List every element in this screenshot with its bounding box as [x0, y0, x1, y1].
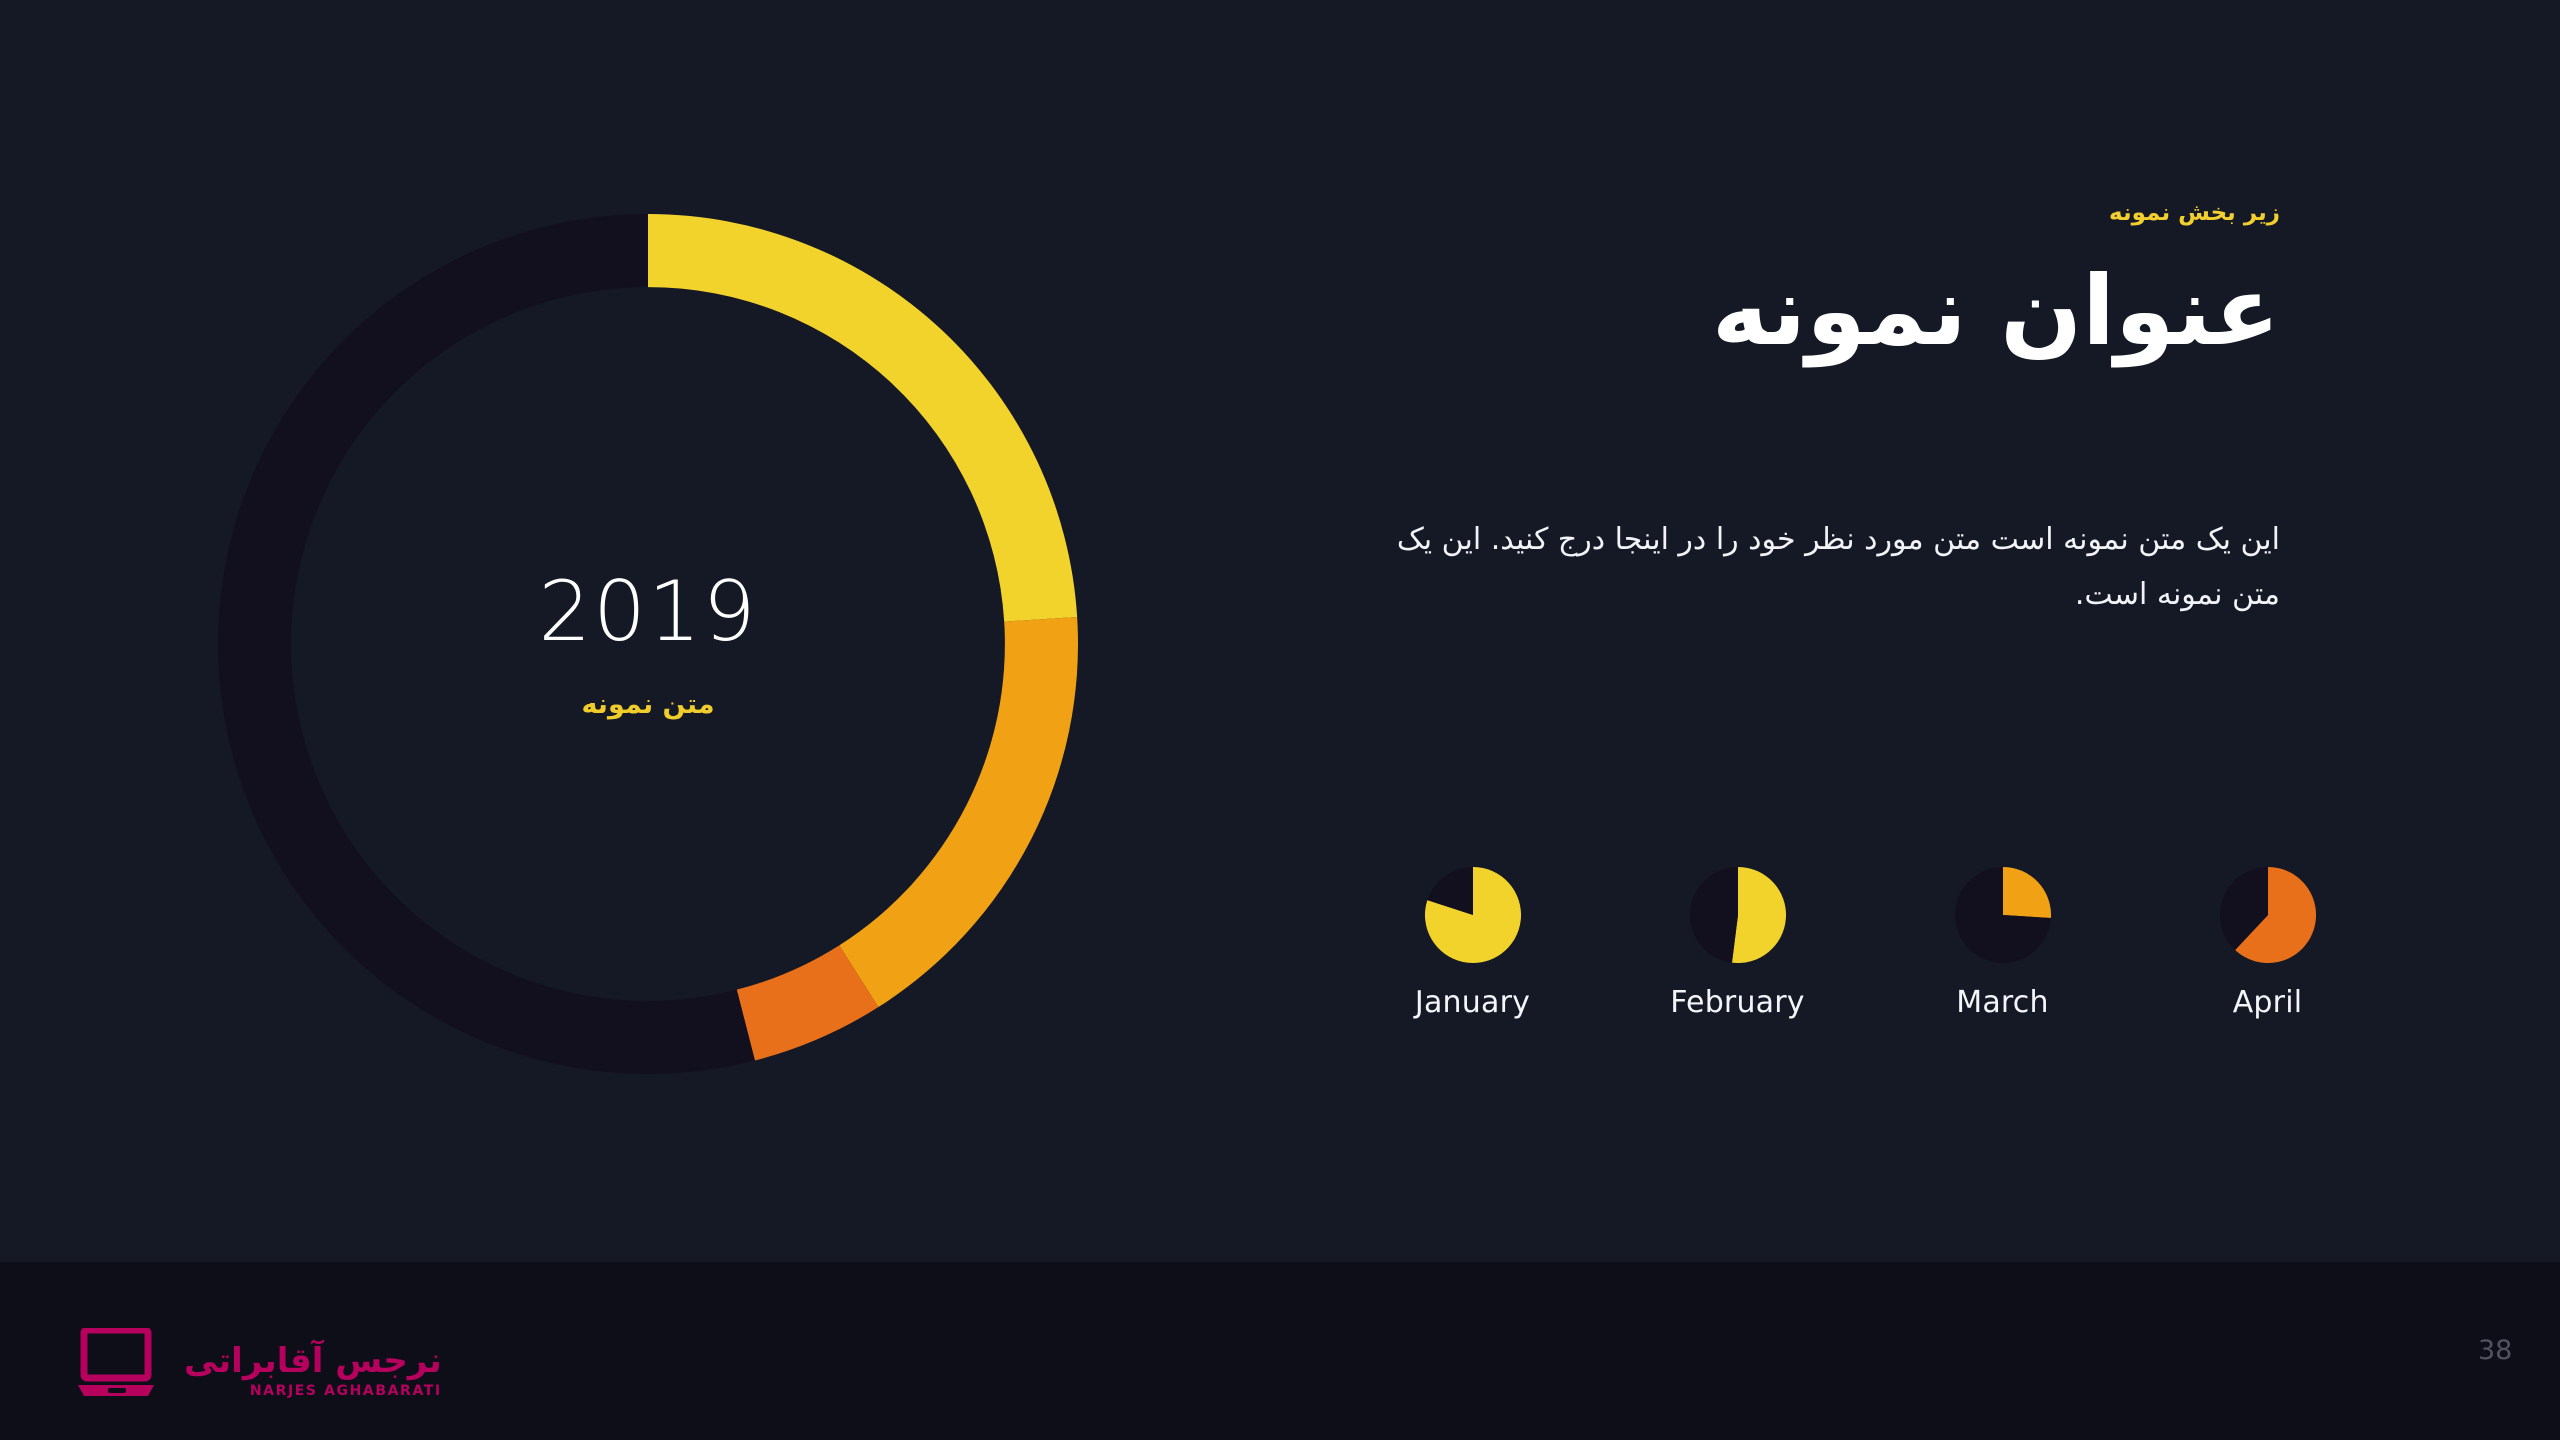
- pie-slice-group: [2219, 867, 2315, 963]
- pie-slice-مقدار: [2003, 867, 2051, 918]
- brand-name-en: NARJES AGHABARATI: [250, 1384, 442, 1398]
- pie-slice-بخش ۱: [648, 214, 1077, 622]
- page-number: 38: [2478, 1337, 2512, 1364]
- pie-slice-باقیمانده: [218, 214, 755, 1074]
- pie-label: March: [1956, 988, 2048, 1018]
- pie-svg-april: [2219, 866, 2317, 964]
- pie-slice-group: [1954, 867, 2050, 963]
- pie-label: January: [1415, 988, 1530, 1018]
- pie-slice-بخش ۲: [839, 617, 1078, 1007]
- donut-svg: [218, 214, 1078, 1074]
- section-eyebrow: زیر بخش نمونه: [1350, 200, 2280, 228]
- brand-logo: نرجس آقابراتی NARJES AGHABARATI: [78, 1328, 442, 1400]
- pie-item-april: April: [2135, 866, 2400, 1018]
- pie-svg-february: [1689, 866, 1787, 964]
- pie-slice-group: [1424, 867, 1520, 963]
- slide-canvas: 2019 متن نمونه زیر بخش نمونه عنوان نمونه…: [0, 0, 2560, 1440]
- pie-slice-group: [1689, 867, 1785, 963]
- laptop-icon: [78, 1328, 170, 1400]
- pie-label: April: [2233, 988, 2303, 1018]
- brand-logo-text: نرجس آقابراتی NARJES AGHABARATI: [184, 1344, 442, 1400]
- pie-svg-march: [1954, 866, 2052, 964]
- body-paragraph: این یک متن نمونه است متن مورد نظر خود را…: [1360, 512, 2280, 623]
- year-donut-chart: 2019 متن نمونه: [218, 214, 1078, 1074]
- pie-slice-مقدار: [1731, 867, 1785, 963]
- pie-label: February: [1670, 988, 1805, 1018]
- content-column: زیر بخش نمونه عنوان نمونه این یک متن نمو…: [1350, 200, 2280, 623]
- pie-item-february: February: [1605, 866, 1870, 1018]
- pie-svg-january: [1424, 866, 1522, 964]
- brand-name-fa: نرجس آقابراتی: [184, 1344, 442, 1378]
- monthly-pie-row: JanuaryFebruaryMarchApril: [1340, 866, 2400, 1018]
- donut-slice-group: [218, 214, 1078, 1074]
- pie-item-march: March: [1870, 866, 2135, 1018]
- pie-item-january: January: [1340, 866, 1605, 1018]
- pie-slice-باقیمانده: [1689, 867, 1737, 963]
- page-title: عنوان نمونه: [1350, 256, 2280, 366]
